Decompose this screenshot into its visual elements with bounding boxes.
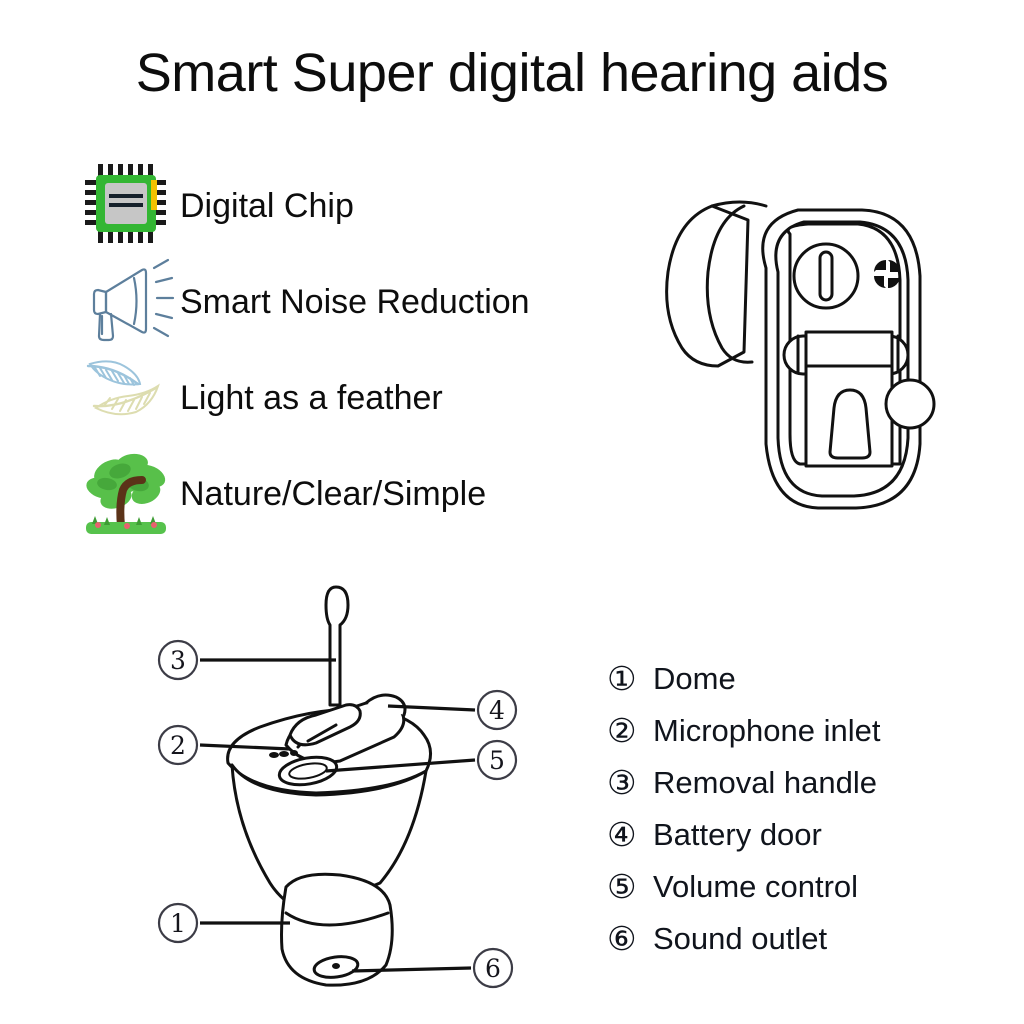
callout-1-number: 1 [170, 909, 186, 938]
legend-label: Dome [653, 663, 736, 694]
legend-item-volume-control: ⑤ Volume control [607, 860, 1007, 912]
legend-number: ① [607, 662, 653, 695]
feature-item-nature-clear-simple: Nature/Clear/Simple [80, 446, 640, 542]
callout-4: 4 [478, 691, 516, 729]
two-feathers-icon [80, 350, 176, 442]
callout-2: 2 [159, 726, 197, 764]
feature-list: Digital Chip [80, 158, 640, 542]
legend-number: ⑥ [607, 922, 653, 955]
hearing-aid-callout-drawing: 3 2 4 5 1 6 [140, 575, 560, 1005]
megaphone-icon [80, 254, 176, 346]
hearing-aid-front-view-drawing [648, 176, 938, 526]
feature-label: Light as a feather [180, 381, 443, 415]
callout-6-number: 6 [485, 954, 501, 983]
legend-label: Volume control [653, 871, 858, 902]
parts-legend: ① Dome ② Microphone inlet ③ Removal hand… [607, 652, 1007, 964]
legend-number: ② [607, 714, 653, 747]
legend-label: Removal handle [653, 767, 877, 798]
callout-6: 6 [474, 949, 512, 987]
legend-number: ③ [607, 766, 653, 799]
legend-label: Sound outlet [653, 923, 827, 954]
callout-4-number: 4 [489, 696, 505, 725]
page-title: Smart Super digital hearing aids [0, 42, 1024, 104]
callout-3: 3 [159, 641, 197, 679]
infographic-page: Smart Super digital hearing aids [0, 0, 1024, 1024]
feature-item-light-as-a-feather: Light as a feather [80, 350, 640, 446]
feature-label: Smart Noise Reduction [180, 285, 530, 319]
callout-5: 5 [478, 741, 516, 779]
feature-label: Digital Chip [180, 189, 354, 223]
tree-icon [80, 446, 176, 538]
feature-item-digital-chip: Digital Chip [80, 158, 640, 254]
callout-2-number: 2 [170, 731, 186, 760]
legend-item-battery-door: ④ Battery door [607, 808, 1007, 860]
feature-label: Nature/Clear/Simple [180, 477, 486, 511]
legend-label: Battery door [653, 819, 822, 850]
feature-item-smart-noise-reduction: Smart Noise Reduction [80, 254, 640, 350]
legend-label: Microphone inlet [653, 715, 880, 746]
legend-item-microphone-inlet: ② Microphone inlet [607, 704, 1007, 756]
legend-item-removal-handle: ③ Removal handle [607, 756, 1007, 808]
callout-1: 1 [159, 904, 197, 942]
legend-number: ④ [607, 818, 653, 851]
legend-item-dome: ① Dome [607, 652, 1007, 704]
legend-item-sound-outlet: ⑥ Sound outlet [607, 912, 1007, 964]
callout-5-number: 5 [489, 746, 505, 775]
callout-3-number: 3 [170, 646, 186, 675]
digital-chip-icon [80, 158, 176, 250]
legend-number: ⑤ [607, 870, 653, 903]
